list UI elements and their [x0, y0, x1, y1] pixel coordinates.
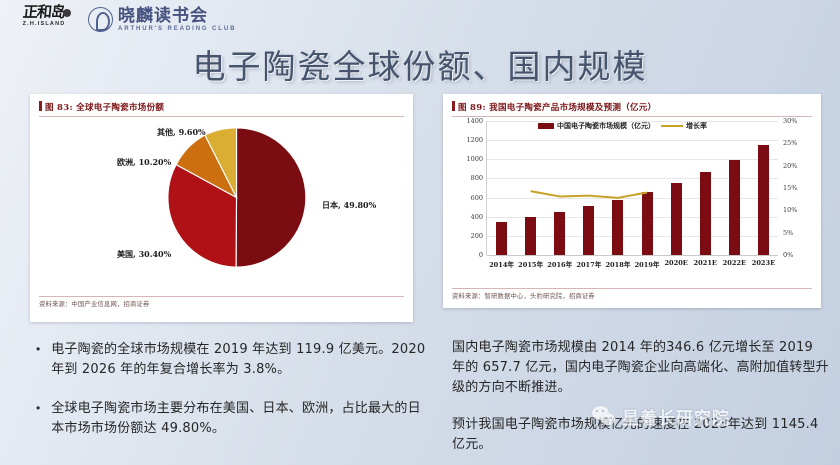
y-axis-tick: 800 — [471, 174, 483, 182]
pie-chart: 其他, 9.60% 欧洲, 10.20% 日本, 49.80% 美国, 30.4… — [39, 119, 404, 295]
figure-bar-title: 图 89: 我国电子陶瓷产品市场规模及预测（亿元） — [452, 100, 812, 117]
pie-slice-japan — [236, 128, 306, 267]
x-axis-tick: 2021E — [694, 259, 717, 267]
logo-reading-club-en: ARTHUR'S READING CLUB — [118, 26, 236, 32]
logo-reading-club: 晓麟读书会 ARTHUR'S READING CLUB — [88, 5, 236, 33]
y2-axis-tick: 30% — [783, 117, 797, 125]
x-axis-tick: 2015年 — [518, 259, 543, 269]
list-item: • 全球电子陶瓷市场主要分布在美国、日本、欧洲，占比最大的日本市场市场份额达 4… — [36, 399, 428, 439]
left-bullet-list: • 电子陶瓷的全球市场规模在 2019 年达到 119.9 亿美元。2020 年… — [36, 340, 428, 458]
y-axis-tick: 600 — [471, 194, 483, 202]
y2-axis-tick: 25% — [783, 139, 797, 147]
bullet-glyph-icon: • — [36, 399, 40, 439]
figure-card-pie: 图 83: 全球电子陶瓷市场份额 其他, 9.60% 欧洲, 10.20% 日本… — [30, 94, 413, 322]
y2-axis-tick: 15% — [783, 184, 797, 192]
bar-chart-plot-area: 02004006008001000120014000%5%10%15%20%25… — [486, 121, 778, 255]
reading-club-emblem-icon — [88, 7, 113, 32]
paragraph-forecast: 预计我国电子陶瓷市场规模亿元的速度在 2023年达到 1145.4 亿元。 — [452, 415, 830, 455]
x-axis-tick: 2017年 — [576, 259, 601, 269]
bullet-text: 全球电子陶瓷市场主要分布在美国、日本、欧洲，占比最大的日本市场市场份额达 49.… — [51, 399, 428, 439]
y2-axis-tick: 5% — [783, 229, 793, 237]
y-axis-tick: 1000 — [466, 155, 483, 163]
y2-axis-tick: 0% — [783, 251, 793, 259]
gridline — [487, 255, 778, 256]
figure-bar-source: 资料来源：智研数据中心，头豹研究院，招商证券 — [452, 288, 812, 300]
pie-label-us: 美国, 30.40% — [117, 249, 171, 260]
bar-chart: 中国电子陶瓷市场规模（亿元） 增长率 020040060080010001200… — [452, 119, 812, 287]
x-axis-tick: 2019年 — [635, 259, 660, 269]
y-axis-tick: 1400 — [466, 117, 483, 125]
logo-zhengheisland: 正和岛 Z.H.ISLAND — [8, 4, 80, 34]
page-header: 正和岛 Z.H.ISLAND 晓麟读书会 ARTHUR'S READING CL… — [0, 0, 840, 36]
y2-axis-tick: 20% — [783, 162, 797, 170]
list-item: • 电子陶瓷的全球市场规模在 2019 年达到 119.9 亿美元。2020 年… — [36, 340, 428, 380]
right-paragraph-block: 国内电子陶瓷市场规模由 2014 年的346.6 亿元增长至 2019 年的 6… — [452, 338, 830, 465]
x-axis-tick: 2016年 — [547, 259, 572, 269]
pie-chart-svg — [164, 125, 309, 270]
figure-card-bar: 图 89: 我国电子陶瓷产品市场规模及预测（亿元） 中国电子陶瓷市场规模（亿元）… — [443, 94, 821, 308]
figure-pie-title: 图 83: 全球电子陶瓷市场份额 — [39, 100, 404, 117]
logo-zhengheisland-mark-icon — [63, 9, 71, 17]
paragraph-domestic-market: 国内电子陶瓷市场规模由 2014 年的346.6 亿元增长至 2019 年的 6… — [452, 338, 830, 398]
y-axis-tick: 1200 — [466, 136, 483, 144]
figure-pie-source: 资料来源：中国产业信息网，招商证券 — [39, 296, 404, 308]
pie-label-other: 其他, 9.60% — [157, 127, 206, 138]
y2-axis-tick: 10% — [783, 206, 797, 214]
y-axis-tick: 200 — [471, 232, 483, 240]
pie-label-japan: 日本, 49.80% — [322, 200, 376, 211]
growth-rate-line — [487, 121, 778, 255]
page-title: 电子陶瓷全球份额、国内规模 — [0, 40, 840, 88]
pie-label-europe: 欧洲, 10.20% — [117, 157, 171, 168]
y-axis-tick: 0 — [479, 251, 483, 259]
x-axis-tick: 2014年 — [489, 259, 514, 269]
y-axis-tick: 400 — [471, 213, 483, 221]
x-axis-tick: 2022E — [723, 259, 746, 267]
logo-zhengheisland-en: Z.H.ISLAND — [8, 21, 80, 27]
x-axis-tick: 2020E — [664, 259, 687, 267]
x-axis-tick: 2018年 — [605, 259, 630, 269]
x-axis-tick: 2023E — [752, 259, 775, 267]
logo-reading-club-text: 晓麟读书会 ARTHUR'S READING CLUB — [118, 7, 236, 32]
bullet-glyph-icon: • — [36, 340, 40, 380]
logo-reading-club-cn: 晓麟读书会 — [118, 7, 236, 25]
bullet-text: 电子陶瓷的全球市场规模在 2019 年达到 119.9 亿美元。2020 年到 … — [51, 340, 428, 380]
